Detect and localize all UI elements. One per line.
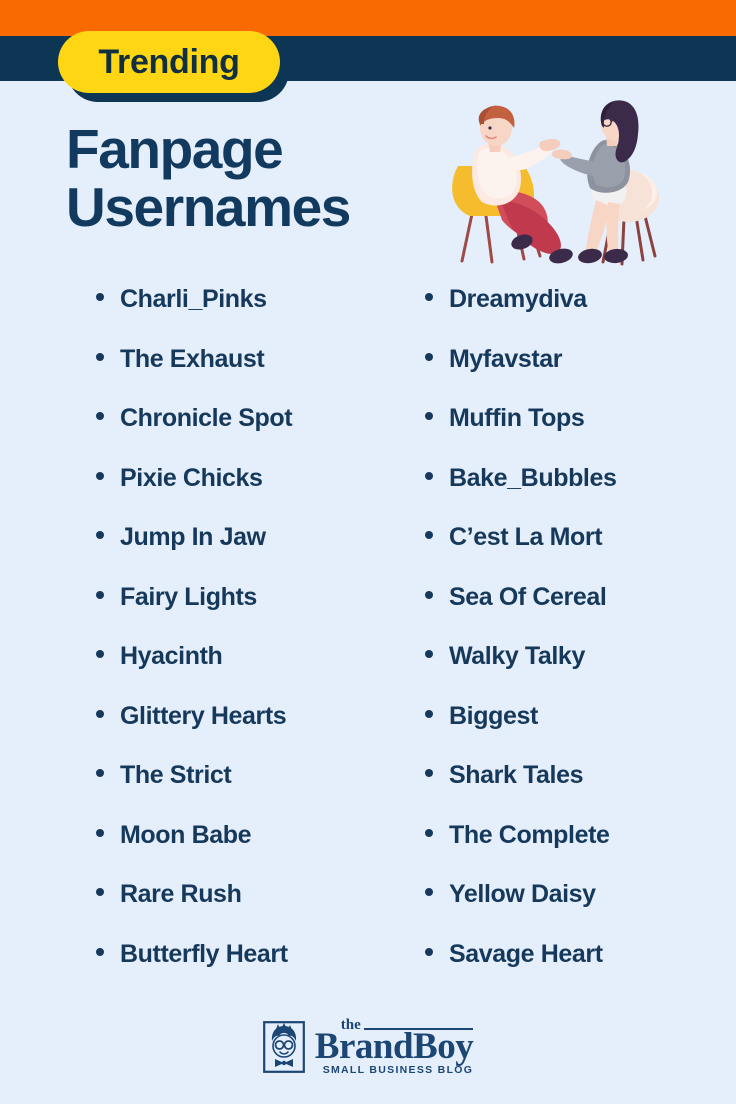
- bullet-icon: [96, 412, 104, 420]
- list-item: The Complete: [425, 821, 736, 881]
- bullet-icon: [96, 531, 104, 539]
- list-item-label: Chronicle Spot: [120, 404, 292, 433]
- list-item: Butterfly Heart: [96, 940, 407, 1000]
- bullet-icon: [425, 591, 433, 599]
- list-item: Bake_Bubbles: [425, 464, 736, 524]
- list-item-label: Jump In Jaw: [120, 523, 266, 552]
- list-item-label: Moon Babe: [120, 821, 251, 850]
- list-item: Sea Of Cereal: [425, 583, 736, 643]
- list-item-label: The Exhaust: [120, 345, 264, 374]
- bullet-icon: [425, 829, 433, 837]
- bullet-icon: [96, 888, 104, 896]
- bullet-icon: [425, 353, 433, 361]
- username-list-right: Dreamydiva Myfavstar Muffin Tops Bake_Bu…: [425, 285, 736, 999]
- list-item: C’est La Mort: [425, 523, 736, 583]
- bullet-icon: [96, 353, 104, 361]
- list-item-label: Pixie Chicks: [120, 464, 263, 493]
- bullet-icon: [425, 710, 433, 718]
- list-item: Glittery Hearts: [96, 702, 407, 762]
- list-item-label: Sea Of Cereal: [449, 583, 606, 612]
- list-item-label: Dreamydiva: [449, 285, 587, 314]
- bullet-icon: [96, 472, 104, 480]
- brandboy-mascot-icon: [263, 1021, 305, 1073]
- list-item-label: Butterfly Heart: [120, 940, 288, 969]
- list-item-label: Fairy Lights: [120, 583, 257, 612]
- list-item-label: Savage Heart: [449, 940, 603, 969]
- list-item: Chronicle Spot: [96, 404, 407, 464]
- bullet-icon: [96, 710, 104, 718]
- bullet-icon: [425, 948, 433, 956]
- list-item-label: The Complete: [449, 821, 610, 850]
- list-item-label: Glittery Hearts: [120, 702, 286, 731]
- list-item: Rare Rush: [96, 880, 407, 940]
- list-item: Shark Tales: [425, 761, 736, 821]
- list-item: Charli_Pinks: [96, 285, 407, 345]
- username-lists: Charli_Pinks The Exhaust Chronicle Spot …: [0, 285, 736, 999]
- list-item: Moon Babe: [96, 821, 407, 881]
- list-item-label: Biggest: [449, 702, 538, 731]
- list-item-label: The Strict: [120, 761, 231, 790]
- list-item: Yellow Daisy: [425, 880, 736, 940]
- list-item: Pixie Chicks: [96, 464, 407, 524]
- bullet-icon: [96, 591, 104, 599]
- trending-badge: Trending: [58, 31, 280, 93]
- trending-badge-label: Trending: [98, 45, 239, 79]
- list-item: The Strict: [96, 761, 407, 821]
- list-item: Myfavstar: [425, 345, 736, 405]
- footer-logo: the BrandBoy SMALL BUSINESS BLOG: [0, 1018, 736, 1076]
- bullet-icon: [96, 948, 104, 956]
- list-item: Dreamydiva: [425, 285, 736, 345]
- list-item-label: Shark Tales: [449, 761, 583, 790]
- list-item: Jump In Jaw: [96, 523, 407, 583]
- bullet-icon: [425, 531, 433, 539]
- list-item-label: Myfavstar: [449, 345, 562, 374]
- bullet-icon: [425, 650, 433, 658]
- brandboy-wordmark: the BrandBoy SMALL BUSINESS BLOG: [315, 1018, 473, 1076]
- logo-tagline: SMALL BUSINESS BLOG: [315, 1064, 473, 1076]
- page-title-line-1: Fanpage: [66, 120, 446, 178]
- list-item-label: Walky Talky: [449, 642, 585, 671]
- list-item: Biggest: [425, 702, 736, 762]
- bullet-icon: [425, 888, 433, 896]
- list-item: The Exhaust: [96, 345, 407, 405]
- list-item-label: Yellow Daisy: [449, 880, 596, 909]
- list-item: Hyacinth: [96, 642, 407, 702]
- username-list-left: Charli_Pinks The Exhaust Chronicle Spot …: [96, 285, 407, 999]
- list-item: Savage Heart: [425, 940, 736, 1000]
- bullet-icon: [425, 412, 433, 420]
- list-item-label: Rare Rush: [120, 880, 241, 909]
- logo-brand-name: BrandBoy: [315, 1029, 473, 1064]
- two-people-conversation-illustration: [440, 96, 670, 276]
- list-item: Fairy Lights: [96, 583, 407, 643]
- bullet-icon: [96, 829, 104, 837]
- list-item-label: Bake_Bubbles: [449, 464, 617, 493]
- page-title-line-2: Usernames: [66, 178, 446, 236]
- page-title: Fanpage Usernames: [66, 120, 446, 237]
- bullet-icon: [425, 293, 433, 301]
- bullet-icon: [96, 650, 104, 658]
- bullet-icon: [425, 472, 433, 480]
- trending-badge-pill: Trending: [58, 31, 280, 93]
- bullet-icon: [425, 769, 433, 777]
- list-item-label: Hyacinth: [120, 642, 222, 671]
- list-item: Muffin Tops: [425, 404, 736, 464]
- list-item: Walky Talky: [425, 642, 736, 702]
- bullet-icon: [96, 293, 104, 301]
- list-item-label: Muffin Tops: [449, 404, 584, 433]
- list-item-label: C’est La Mort: [449, 523, 602, 552]
- bullet-icon: [96, 769, 104, 777]
- list-item-label: Charli_Pinks: [120, 285, 267, 314]
